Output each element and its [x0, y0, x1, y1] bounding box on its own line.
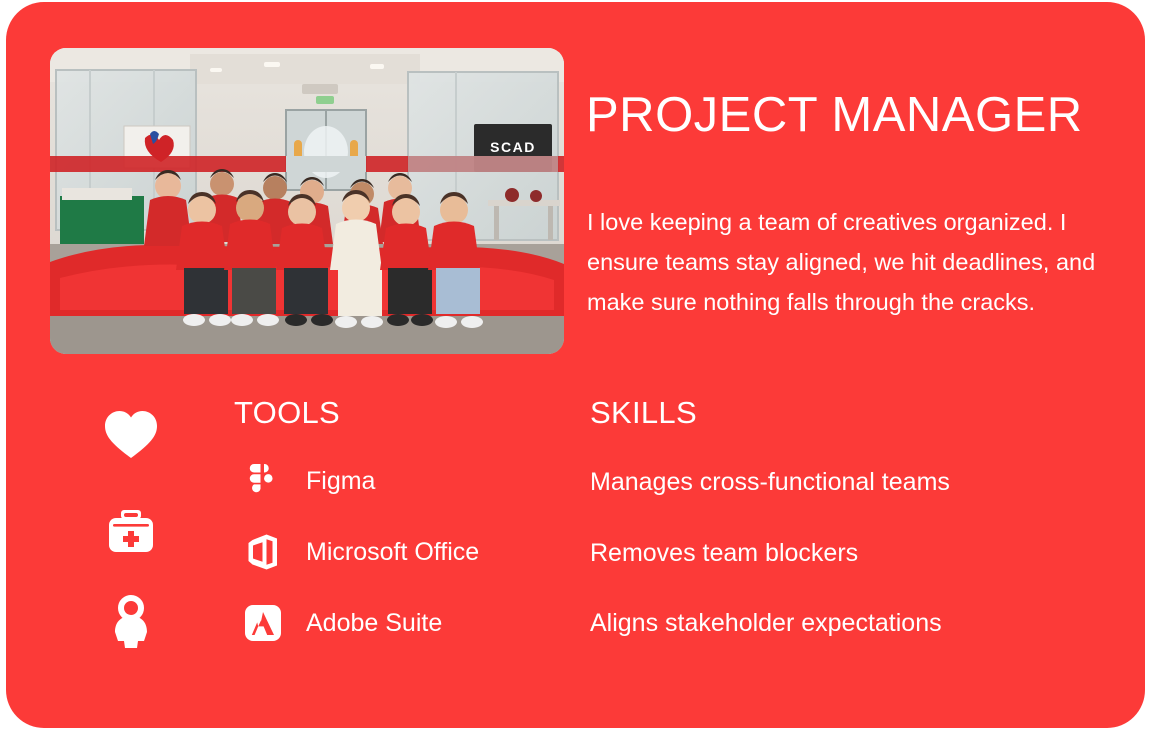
figma-icon [242, 460, 284, 502]
skills-heading: SKILLS [590, 395, 697, 431]
role-description: I love keeping a team of creatives organ… [587, 202, 1115, 322]
svg-text:SCAD: SCAD [490, 139, 536, 155]
tool-item-figma[interactable]: Figma [242, 460, 562, 502]
first-aid-kit-icon [102, 502, 160, 560]
skill-item: Manages cross-functional teams [590, 468, 950, 497]
tool-label: Microsoft Office [306, 538, 479, 567]
adobe-icon [242, 602, 284, 644]
microsoft-office-icon [242, 531, 284, 573]
tool-label: Figma [306, 467, 375, 496]
skill-item: Aligns stakeholder expectations [590, 609, 942, 638]
person-icon [102, 594, 160, 652]
tool-label: Adobe Suite [306, 609, 442, 638]
tool-item-microsoft-office[interactable]: Microsoft Office [242, 531, 562, 573]
profile-card: SCAD [6, 2, 1145, 728]
skill-item: Removes team blockers [590, 539, 858, 568]
heart-icon [102, 406, 160, 464]
page-title: PROJECT MANAGER [586, 87, 1083, 143]
tool-item-adobe-suite[interactable]: Adobe Suite [242, 602, 562, 644]
tools-heading: TOOLS [234, 395, 340, 431]
team-photo-illustration: SCAD [50, 48, 564, 354]
team-photo: SCAD [50, 48, 564, 354]
